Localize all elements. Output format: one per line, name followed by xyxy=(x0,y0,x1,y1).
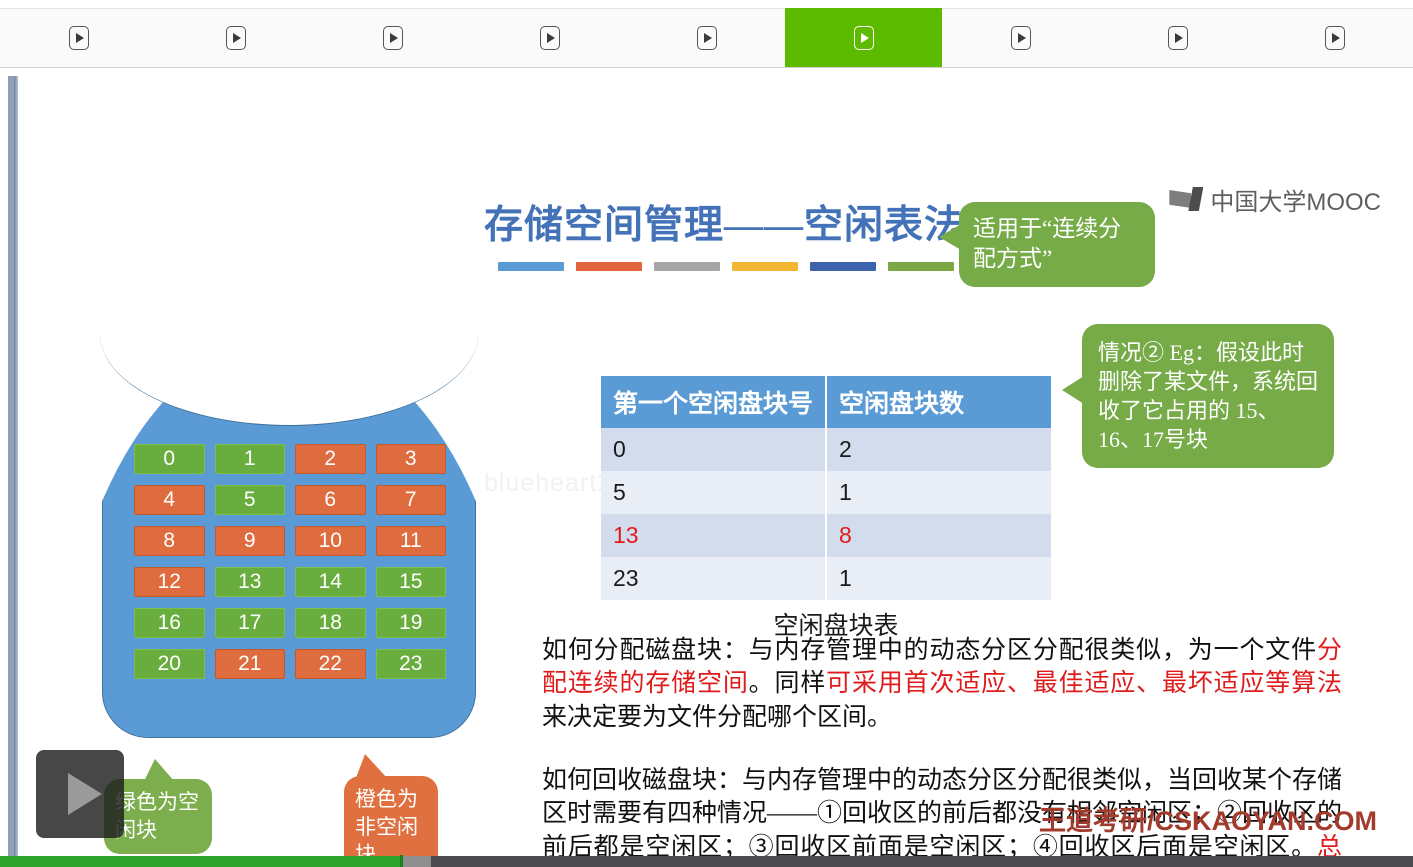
video-player-page: blueheart201 存储空间管理——空闲表法 中国大学MOOC 适用于“连… xyxy=(0,0,1413,867)
cell-count: 8 xyxy=(826,514,1051,557)
lesson-tab-6[interactable] xyxy=(785,8,942,67)
title-bar-gray xyxy=(654,262,720,271)
title-bar-yellow xyxy=(732,262,798,271)
play-icon xyxy=(854,26,874,50)
table-row: 51 xyxy=(601,471,1051,514)
disk-block-5: 5 xyxy=(215,485,286,515)
mooc-logo: 中国大学MOOC xyxy=(1169,182,1381,217)
play-icon xyxy=(1325,26,1345,50)
cell-count: 1 xyxy=(826,471,1051,514)
lesson-tab-4[interactable] xyxy=(471,8,628,67)
title-bar-green xyxy=(888,262,954,271)
cell-first-block: 5 xyxy=(601,471,826,514)
disk-block-11: 11 xyxy=(376,526,447,556)
mooc-book-icon xyxy=(1169,187,1203,212)
legend-text: 橙色为非空闲块 xyxy=(344,776,438,856)
disk-block-12: 12 xyxy=(134,567,205,597)
disk-block-21: 21 xyxy=(215,649,286,679)
title-bar-orange xyxy=(576,262,642,271)
mooc-logo-text: 中国大学MOOC xyxy=(1210,182,1381,217)
callout-tail xyxy=(1062,376,1084,404)
disk-block-10: 10 xyxy=(295,526,366,556)
disk-block-3: 3 xyxy=(376,444,447,474)
disk-block-13: 13 xyxy=(215,567,286,597)
table-row: 02 xyxy=(601,428,1051,471)
table-col-header-1: 第一个空闲盘块号 xyxy=(601,376,826,428)
disk-block-15: 15 xyxy=(376,567,447,597)
title-underline-bars xyxy=(498,262,964,271)
lesson-tab-3[interactable] xyxy=(314,8,471,67)
callout-tail xyxy=(356,754,387,778)
lesson-tab-8[interactable] xyxy=(1099,8,1256,67)
cell-first-block: 13 xyxy=(601,514,826,557)
cell-count: 2 xyxy=(826,428,1051,471)
play-icon xyxy=(697,26,717,50)
disk-block-9: 9 xyxy=(215,526,286,556)
emphasis-text: 可采用首次适应、最佳适应、最坏适应等算法 xyxy=(826,670,1342,697)
play-icon xyxy=(69,26,89,50)
lesson-tabstrip xyxy=(0,0,1413,68)
disk-block-16: 16 xyxy=(134,608,205,638)
lesson-tab-2[interactable] xyxy=(157,8,314,67)
disk-block-grid: 01234567891011121314151617181920212223 xyxy=(134,444,446,679)
lesson-tab-1[interactable] xyxy=(0,8,157,67)
slide-canvas: blueheart201 存储空间管理——空闲表法 中国大学MOOC 适用于“连… xyxy=(8,76,1405,856)
table-row: 138 xyxy=(601,514,1051,557)
disk-diagram: 01234567891011121314151617181920212223 xyxy=(102,338,476,738)
table-header-row: 第一个空闲盘块号空闲盘块数 xyxy=(601,376,1051,428)
progress-handle[interactable] xyxy=(400,855,403,867)
title-bar-darkblue xyxy=(810,262,876,271)
body-text: 如何分配磁盘块：与内存管理中的动态分区分配很类似，为一个文件 xyxy=(542,637,1317,664)
callout-tail xyxy=(939,224,961,250)
free-block-table-wrap: 第一个空闲盘块号空闲盘块数 0251138231 空闲盘块表 xyxy=(601,376,1051,642)
disk-block-17: 17 xyxy=(215,608,286,638)
disk-block-7: 7 xyxy=(376,485,447,515)
page-title: 存储空间管理——空闲表法 xyxy=(484,194,964,250)
disk-block-0: 0 xyxy=(134,444,205,474)
video-progress-bar[interactable] xyxy=(0,856,1413,867)
play-icon xyxy=(226,26,246,50)
lesson-tab-9[interactable] xyxy=(1256,8,1413,67)
play-icon xyxy=(383,26,403,50)
cell-first-block: 23 xyxy=(601,557,826,600)
play-icon xyxy=(1168,26,1188,50)
disk-block-2: 2 xyxy=(295,444,366,474)
table-row: 231 xyxy=(601,557,1051,600)
body-text: 来决定要为文件分配哪个区间。 xyxy=(542,704,892,731)
disk-block-4: 4 xyxy=(134,485,205,515)
body-text: 。同样 xyxy=(749,670,827,697)
play-icon xyxy=(540,26,560,50)
cell-count: 1 xyxy=(826,557,1051,600)
play-icon xyxy=(1011,26,1031,50)
disk-block-20: 20 xyxy=(134,649,205,679)
disk-block-6: 6 xyxy=(295,485,366,515)
disk-block-14: 14 xyxy=(295,567,366,597)
disk-block-19: 19 xyxy=(376,608,447,638)
table-col-header-2: 空闲盘块数 xyxy=(826,376,1051,428)
disk-block-18: 18 xyxy=(295,608,366,638)
disk-block-22: 22 xyxy=(295,649,366,679)
callout-text: 情况② Eg：假设此时删除了某文件，系统回收了它占用的 15、16、17号块 xyxy=(1082,324,1334,468)
brand-watermark: 王道考研/CSKAOYAN.COM xyxy=(1039,799,1377,838)
slide-title-block: 存储空间管理——空闲表法 xyxy=(484,194,964,271)
play-overlay-button[interactable] xyxy=(36,750,124,838)
progress-played xyxy=(0,856,400,867)
legend-used-blocks: 橙色为非空闲块 xyxy=(344,776,438,856)
callout-tail xyxy=(144,759,174,781)
callout-case-two: 情况② Eg：假设此时删除了某文件，系统回收了它占用的 15、16、17号块 xyxy=(1082,324,1334,468)
cell-first-block: 0 xyxy=(601,428,826,471)
title-bar-blue xyxy=(498,262,564,271)
disk-block-1: 1 xyxy=(215,444,286,474)
lesson-tab-5[interactable] xyxy=(628,8,785,67)
disk-block-23: 23 xyxy=(376,649,447,679)
lesson-tab-7[interactable] xyxy=(942,8,1099,67)
allocation-paragraph: 如何分配磁盘块：与内存管理中的动态分区分配很类似，为一个文件分配连续的存储空间。… xyxy=(542,634,1342,734)
free-block-table: 第一个空闲盘块号空闲盘块数 0251138231 xyxy=(601,376,1051,600)
callout-text: 适用于“连续分配方式” xyxy=(959,202,1155,287)
disk-block-8: 8 xyxy=(134,526,205,556)
callout-applies-to: 适用于“连续分配方式” xyxy=(959,202,1155,287)
